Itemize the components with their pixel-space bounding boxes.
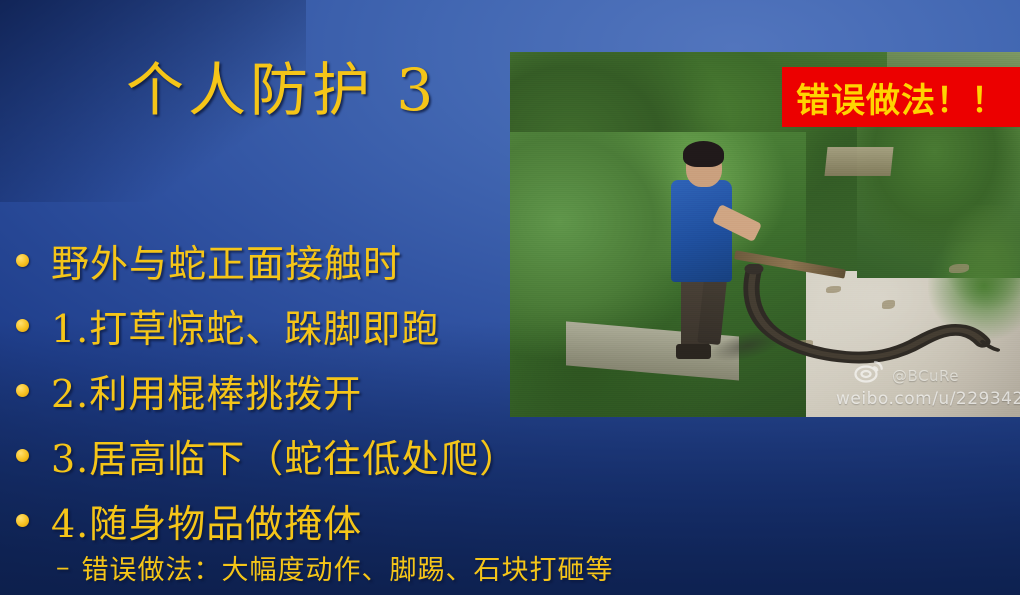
bullet-dot-icon [16,319,29,332]
sub-bullet-item: – 错误做法：大幅度动作、脚踢、石块打砸等 [56,548,614,587]
watermark: @BCuRe weibo.com/u/229342 [836,357,1016,415]
list-item: 野外与蛇正面接触时 [8,228,568,293]
watermark-url: weibo.com/u/229342 [836,389,1020,409]
list-item: 2.利用棍棒挑拨开 [8,358,568,423]
bullet-dot-icon [16,254,29,267]
sub-bullet-label: 错误做法：大幅度动作、脚踢、石块打砸等 [82,548,614,587]
bullet-list: 野外与蛇正面接触时 1.打草惊蛇、跺脚即跑 2.利用棍棒挑拨开 3.居高临下（蛇… [8,228,568,553]
dash-icon: – [56,552,70,583]
bullet-label: 野外与蛇正面接触时 [51,233,402,288]
list-item: 3.居高临下（蛇往低处爬） [8,423,568,488]
warning-banner-label: 错误做法！！ [796,73,1006,122]
bullet-label: 4.随身物品做掩体 [51,493,362,548]
watermark-handle: @BCuRe [892,367,959,385]
presentation-slide: 个人防护 3 野外与蛇正面接触时 1.打草惊蛇、跺脚即跑 2.利用棍棒挑拨开 3… [0,0,1020,595]
bullet-dot-icon [16,449,29,462]
bullet-dot-icon [16,514,29,527]
bullet-label: 3.居高临下（蛇往低处爬） [51,428,518,483]
warning-banner: 错误做法！！ [782,67,1020,127]
weibo-eye-icon [854,359,884,383]
bullet-label: 2.利用棍棒挑拨开 [51,363,362,418]
bullet-label: 1.打草惊蛇、跺脚即跑 [51,298,440,353]
bullet-dot-icon [16,384,29,397]
list-item: 4.随身物品做掩体 [8,488,568,553]
slide-title: 个人防护 3 [126,60,437,121]
list-item: 1.打草惊蛇、跺脚即跑 [8,293,568,358]
